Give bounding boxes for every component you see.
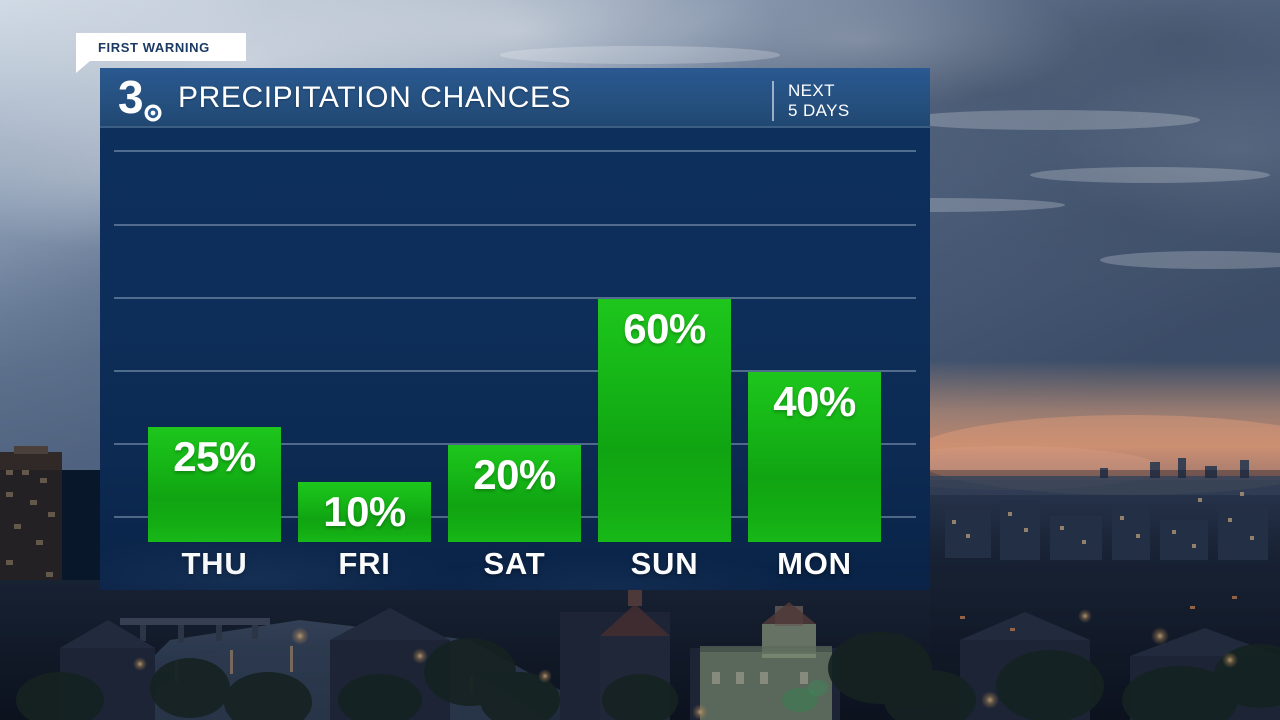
forecast-range-line-2: 5 DAYS bbox=[788, 101, 850, 121]
bar-value-fri: 10% bbox=[323, 491, 406, 542]
first-warning-badge: FIRST WARNING bbox=[76, 33, 246, 61]
svg-text:3: 3 bbox=[118, 74, 144, 123]
bar-column-sat: 20% SAT bbox=[448, 445, 581, 542]
bar-value-sun: 60% bbox=[623, 308, 706, 542]
day-label-sat: SAT bbox=[448, 546, 581, 582]
bar-value-mon: 40% bbox=[773, 381, 856, 542]
bar-column-sun: 60% SUN bbox=[598, 299, 731, 542]
forecast-range: NEXT 5 DAYS bbox=[772, 81, 850, 121]
bar-sat[interactable]: 20% bbox=[448, 445, 581, 542]
panel-title: PRECIPITATION CHANCES bbox=[178, 81, 571, 115]
bar-mon[interactable]: 40% bbox=[748, 372, 881, 542]
day-label-fri: FRI bbox=[298, 546, 431, 582]
forecast-range-line-1: NEXT bbox=[788, 81, 850, 101]
bar-value-thu: 25% bbox=[173, 436, 256, 542]
first-warning-label: FIRST WARNING bbox=[98, 40, 210, 55]
first-warning-badge-tail bbox=[76, 61, 90, 73]
panel-header: 3 PRECIPITATION CHANCES NEXT 5 DAYS bbox=[100, 68, 930, 128]
bar-series: 25% THU 10% FRI 20% SAT 60% SU bbox=[100, 128, 930, 590]
bar-column-thu: 25% THU bbox=[148, 427, 281, 542]
bar-sun[interactable]: 60% bbox=[598, 299, 731, 542]
bar-fri[interactable]: 10% bbox=[298, 482, 431, 542]
day-label-thu: THU bbox=[148, 546, 281, 582]
bar-column-mon: 40% MON bbox=[748, 372, 881, 542]
bar-thu[interactable]: 25% bbox=[148, 427, 281, 542]
chart-area: 25% THU 10% FRI 20% SAT 60% SU bbox=[100, 128, 930, 590]
day-label-sun: SUN bbox=[598, 546, 731, 582]
bar-column-fri: 10% FRI bbox=[298, 482, 431, 542]
channel-3-logo-icon: 3 bbox=[116, 68, 172, 128]
bar-value-sat: 20% bbox=[473, 454, 556, 542]
precipitation-chances-panel: 3 PRECIPITATION CHANCES NEXT 5 DAYS 25% … bbox=[100, 68, 930, 590]
day-label-mon: MON bbox=[748, 546, 881, 582]
